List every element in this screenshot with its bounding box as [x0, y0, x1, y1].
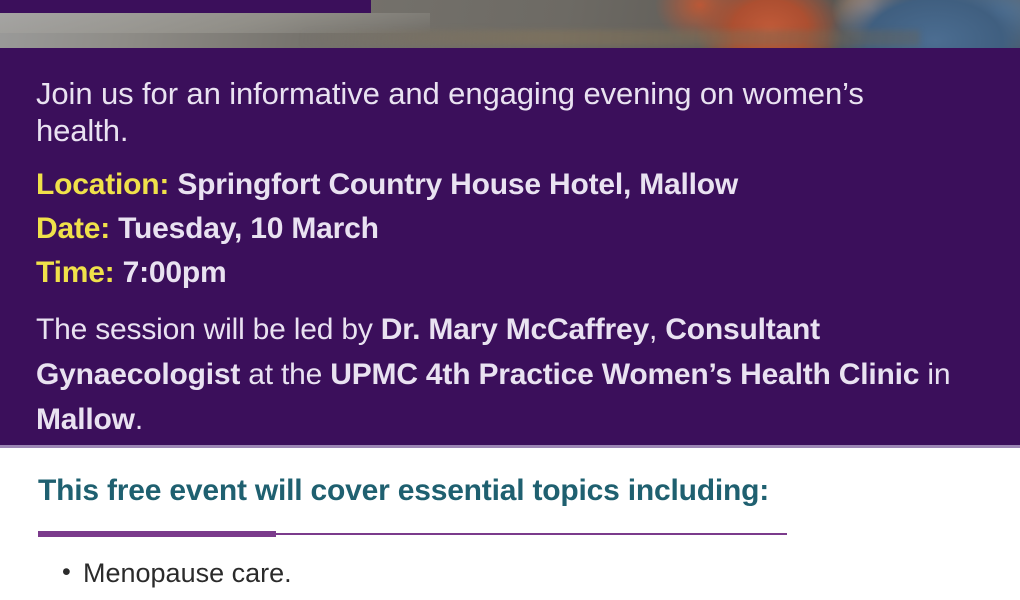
list-item: Gynaecology services.: [38, 593, 984, 600]
time-label: Time:: [36, 256, 114, 289]
topics-divider: [38, 530, 788, 538]
topics-divider-thin: [274, 533, 787, 535]
detail-row-time: Time: 7:00pm: [36, 251, 984, 295]
topics-list: Menopause care. Gynaecology services.: [38, 554, 984, 600]
topics-divider-thick: [38, 531, 276, 537]
time-value: 7:00pm: [123, 256, 227, 289]
date-label: Date:: [36, 212, 110, 245]
speaker-in: in: [919, 358, 950, 391]
banner-purple-footer-bar: [0, 48, 1020, 55]
event-detail-list: Location: Springfort Country House Hotel…: [36, 163, 984, 295]
date-value: Tuesday, 10 March: [118, 212, 379, 245]
list-item: Menopause care.: [38, 554, 984, 593]
hero-banner: [0, 0, 1020, 55]
speaker-name: Dr. Mary McCaffrey: [381, 313, 649, 346]
hero-photo-shadow: [300, 30, 920, 46]
event-details-panel: Join us for an informative and engaging …: [0, 55, 1020, 447]
location-value: Springfort Country House Hotel, Mallow: [177, 168, 738, 201]
location-label: Location:: [36, 168, 169, 201]
intro-paragraph: Join us for an informative and engaging …: [36, 75, 936, 149]
detail-row-date: Date: Tuesday, 10 March: [36, 207, 984, 251]
speaker-period: .: [135, 403, 143, 436]
speaker-place: Mallow: [36, 403, 135, 436]
detail-row-location: Location: Springfort Country House Hotel…: [36, 163, 984, 207]
speaker-paragraph: The session will be led by Dr. Mary McCa…: [36, 307, 976, 442]
speaker-at-the: at the: [240, 358, 330, 391]
speaker-clinic: UPMC 4th Practice Women’s Health Clinic: [330, 358, 919, 391]
topics-heading: This free event will cover essential top…: [38, 474, 984, 508]
poster-page: Join us for an informative and engaging …: [0, 0, 1020, 600]
speaker-lead-in: The session will be led by: [36, 313, 381, 346]
banner-purple-tab: [0, 0, 371, 13]
speaker-comma: ,: [649, 313, 665, 346]
topics-panel: This free event will cover essential top…: [0, 448, 1020, 600]
